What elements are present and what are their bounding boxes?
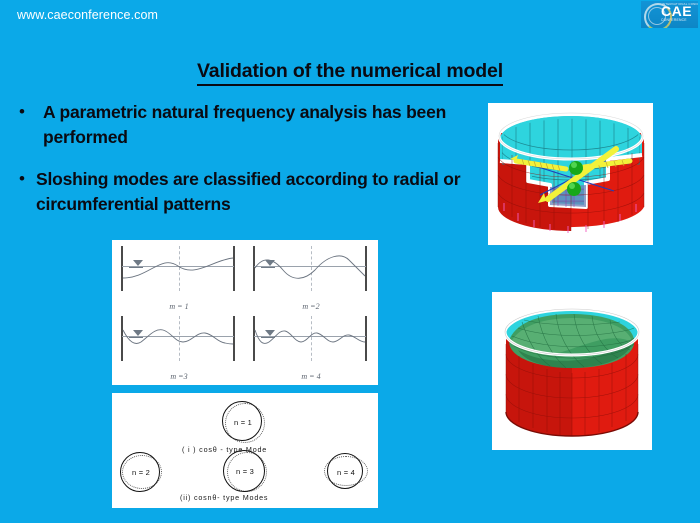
water-level-marker-icon [133, 330, 143, 336]
mode-label: m =3 [115, 372, 243, 381]
mode-label: m =2 [247, 302, 375, 311]
mode-cell: m =3 [115, 314, 243, 382]
water-level-bar-icon [261, 337, 275, 338]
mode-cell: m =2 [247, 244, 375, 312]
page-title-text: Validation of the numerical model [197, 60, 503, 86]
wave-profile-m2 [253, 246, 367, 292]
render-tank-sloshing [492, 292, 652, 450]
tank-sloshing-graphic [492, 292, 652, 450]
water-level-bar-icon [129, 337, 143, 338]
site-url-label: www.caeconference.com [17, 8, 158, 22]
water-level-bar-icon [129, 267, 143, 268]
circ-mode-label: n = 1 [222, 401, 264, 443]
caption-cosn-type: (ii) cosnθ- type Modes [180, 493, 268, 502]
water-level-marker-icon [265, 260, 275, 266]
mode-cell: m = 1 [115, 244, 243, 312]
tank-cutaway-graphic [488, 103, 653, 245]
bullet-text: Sloshing modes are classified according … [36, 167, 484, 217]
figure-longitudinal-modes: m = 1 m =2 m =3 [112, 240, 378, 385]
bullet-list: • A parametric natural frequency analysi… [14, 100, 484, 234]
bullet-marker-icon: • [14, 167, 36, 191]
bullet-text: A parametric natural frequency analysis … [36, 100, 484, 150]
circ-mode-label: n = 3 [222, 449, 268, 493]
wave-profile-m4 [253, 316, 367, 362]
mode-label: m = 1 [115, 302, 243, 311]
water-level-bar-icon [261, 267, 275, 268]
list-item: • A parametric natural frequency analysi… [14, 100, 484, 150]
circ-mode-label: n = 4 [324, 453, 368, 491]
bullet-marker-icon: • [14, 100, 36, 124]
slide-canvas: www.caeconference.com INTERNATIONAL CONF… [0, 0, 700, 523]
water-level-marker-icon [133, 260, 143, 266]
page-title: Validation of the numerical model [0, 60, 700, 83]
logo-sub-text: CONFERENCE [661, 18, 687, 22]
wave-profile-m1 [121, 246, 235, 292]
logo-main-text: CAE [661, 4, 692, 19]
render-tank-cutaway [488, 103, 653, 245]
circ-mode-cell: n = 3 [222, 449, 268, 493]
figure-circumferential-modes: n = 1 ( i ) cosθ - type Mode n = 2 n = 3… [112, 393, 378, 508]
wave-profile-m3 [121, 316, 235, 362]
circ-mode-cell: n = 4 [324, 453, 368, 491]
mode-label: m = 4 [247, 372, 375, 381]
list-item: • Sloshing modes are classified accordin… [14, 167, 484, 217]
circ-mode-cell: n = 2 [118, 451, 164, 493]
water-level-marker-icon [265, 330, 275, 336]
cae-logo: INTERNATIONAL CONFERENCE CAE CONFERENCE [641, 1, 698, 28]
circ-mode-cell: n = 1 [222, 401, 264, 443]
mode-cell: m = 4 [247, 314, 375, 382]
circ-mode-label: n = 2 [118, 451, 164, 493]
